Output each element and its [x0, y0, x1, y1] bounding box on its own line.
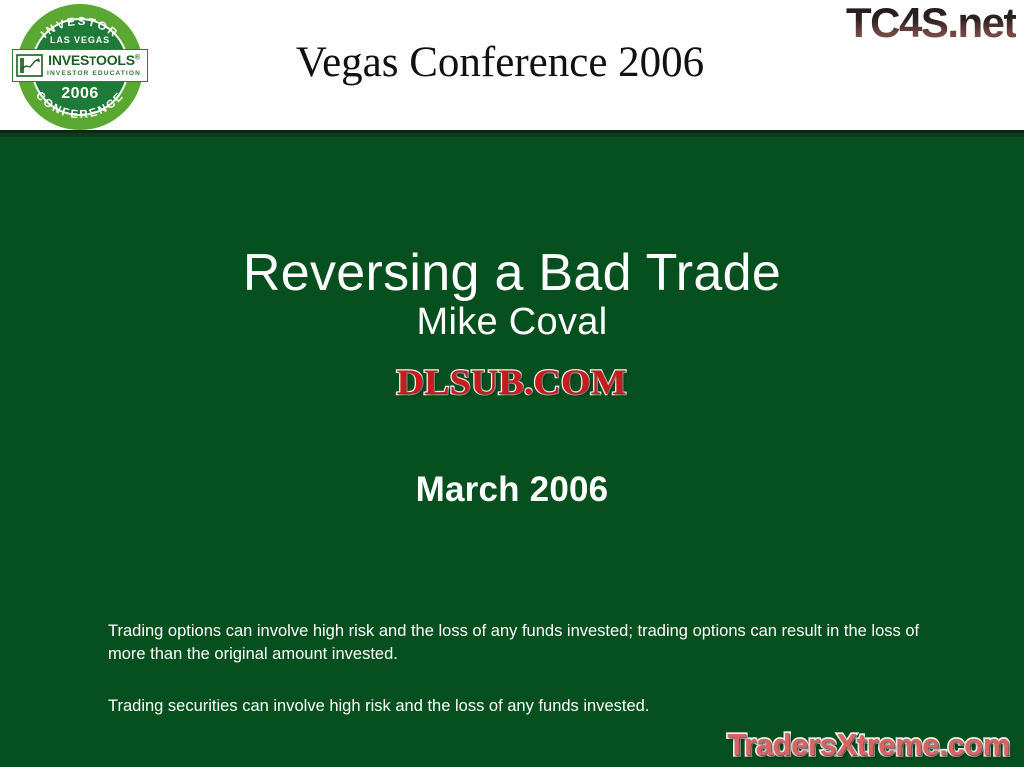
conference-title: Vegas Conference 2006	[170, 40, 830, 85]
investools-conference-badge: INVESTOR CONFERENCE LAS VEGAS INVESTOOLS…	[8, 3, 152, 130]
slide-header: INVESTOR CONFERENCE LAS VEGAS INVESTOOLS…	[0, 0, 1024, 130]
disclaimer-options: Trading options can involve high risk an…	[108, 620, 928, 667]
watermark-dlsub-text: DLSUB.COM	[397, 361, 627, 403]
badge-brand-name: INVESTOOLS®	[43, 53, 145, 69]
disclaimer-block: Trading options can involve high risk an…	[108, 620, 928, 718]
slide-date: March 2006	[0, 472, 1024, 509]
slide-presenter: Mike Coval	[0, 303, 1024, 343]
badge-year-label: 2006	[8, 85, 152, 103]
badge-tagline: INVESTOR EDUCATION	[43, 71, 145, 78]
line-chart-icon	[16, 54, 43, 77]
slide-body: Reversing a Bad Trade Mike Coval DLSUB.C…	[0, 133, 1024, 767]
badge-city-label: LAS VEGAS	[8, 35, 152, 45]
badge-wordmark-band: INVESTOOLS® INVESTOR EDUCATION	[12, 49, 148, 82]
disclaimer-securities: Trading securities can involve high risk…	[108, 695, 928, 718]
watermark-tradersxtreme-text: TradersXtreme.com	[727, 727, 1010, 763]
watermark-dlsub: DLSUB.COM	[0, 361, 1024, 403]
badge-wordmark: INVESTOOLS® INVESTOR EDUCATION	[43, 53, 147, 77]
body-top-accent-line	[0, 133, 1024, 137]
presentation-slide: INVESTOR CONFERENCE LAS VEGAS INVESTOOLS…	[0, 0, 1024, 767]
slide-title: Reversing a Bad Trade	[0, 246, 1024, 300]
watermark-tradersxtreme: TradersXtreme.com	[727, 727, 1010, 763]
watermark-tc4s: TC4S.net	[846, 2, 1016, 44]
